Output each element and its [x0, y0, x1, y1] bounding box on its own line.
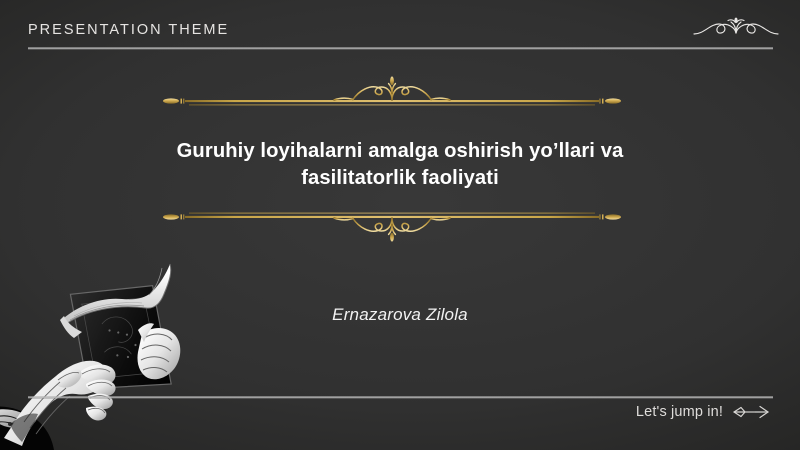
presentation-title-slide: PRESENTATION THEME — [0, 0, 800, 450]
footer-divider — [28, 396, 773, 399]
long-decorative-arrow-right-icon[interactable] — [732, 404, 772, 420]
hands-holding-open-book-engraving-icon — [0, 212, 190, 450]
slide-title: Guruhiy loyihalarni amalga oshirish yo’l… — [150, 138, 650, 191]
page-title: PRESENTATION THEME — [28, 22, 772, 38]
header-divider — [28, 47, 773, 50]
slide-title-line-2: fasilitatorlik faoliyati — [150, 165, 650, 192]
cta-label[interactable]: Let's jump in! — [636, 404, 723, 420]
author-name: Ernazarova Zilola — [150, 305, 650, 325]
slide-title-line-1: Guruhiy loyihalarni amalga oshirish yo’l… — [150, 138, 650, 165]
gold-ornamental-divider-up-icon — [163, 74, 621, 118]
slide-header: PRESENTATION THEME — [28, 22, 772, 38]
gold-ornamental-divider-down-icon — [163, 200, 621, 244]
cta-group[interactable]: Let's jump in! — [636, 404, 772, 420]
flourish-swirl-icon — [688, 12, 784, 46]
